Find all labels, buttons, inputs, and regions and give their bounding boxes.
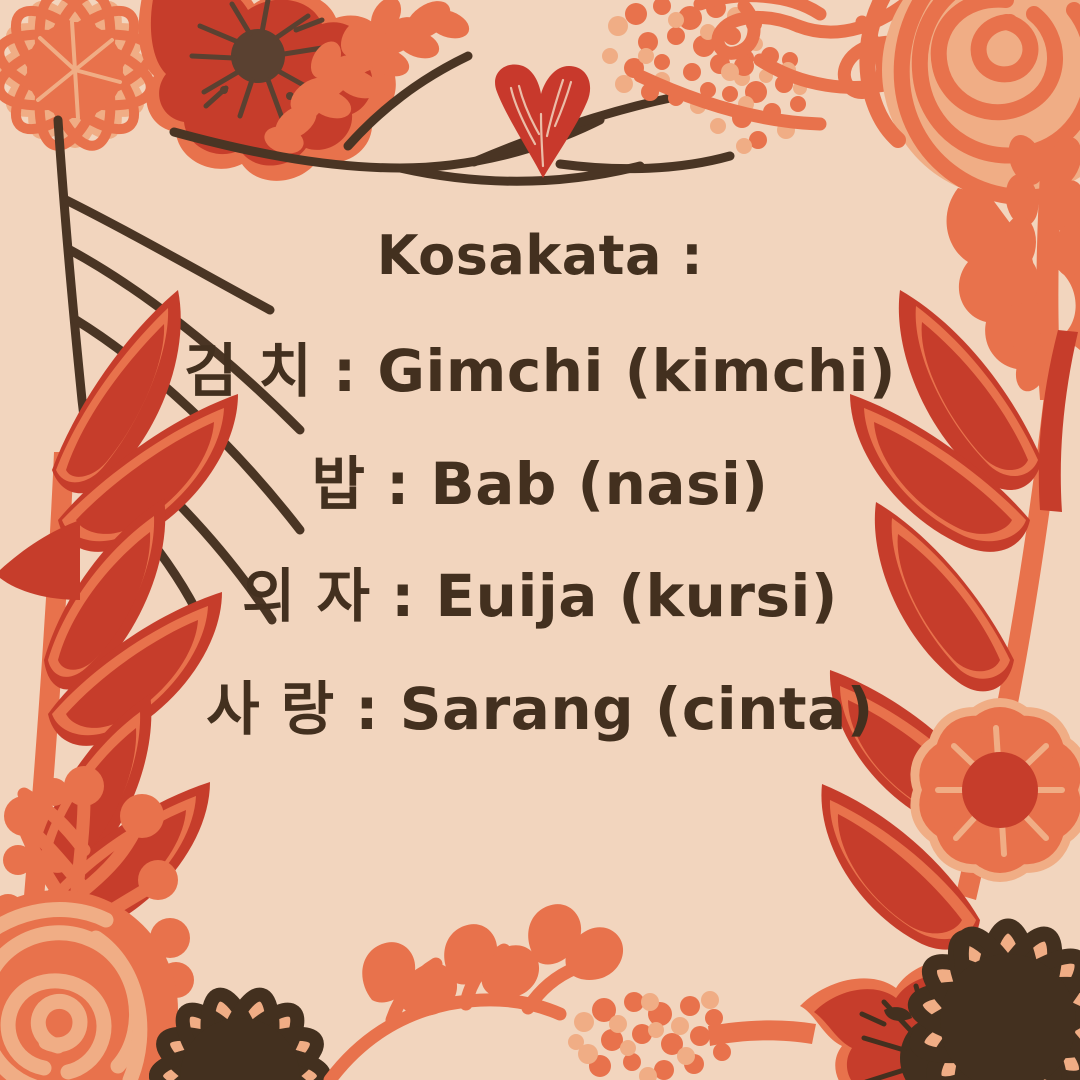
vocabulary-list: Kosakata : 김 치 : Gimchi (kimchi) 밥 : Bab… — [140, 228, 940, 740]
vocabulary-card: Kosakata : 김 치 : Gimchi (kimchi) 밥 : Bab… — [0, 0, 1080, 1080]
hand-drawn-heart-icon — [485, 62, 595, 180]
heart-decoration — [0, 62, 1080, 180]
vocab-entry-sarang: 사 랑 : Sarang (cinta) — [206, 679, 874, 740]
vocab-entry-kimchi: 김 치 : Gimchi (kimchi) — [184, 341, 896, 402]
card-content: Kosakata : 김 치 : Gimchi (kimchi) 밥 : Bab… — [0, 0, 1080, 1080]
page-title: Kosakata : — [377, 228, 704, 285]
vocab-entry-bab: 밥 : Bab (nasi) — [312, 454, 769, 515]
vocab-entry-euija: 의 자 : Euija (kursi) — [242, 566, 838, 627]
